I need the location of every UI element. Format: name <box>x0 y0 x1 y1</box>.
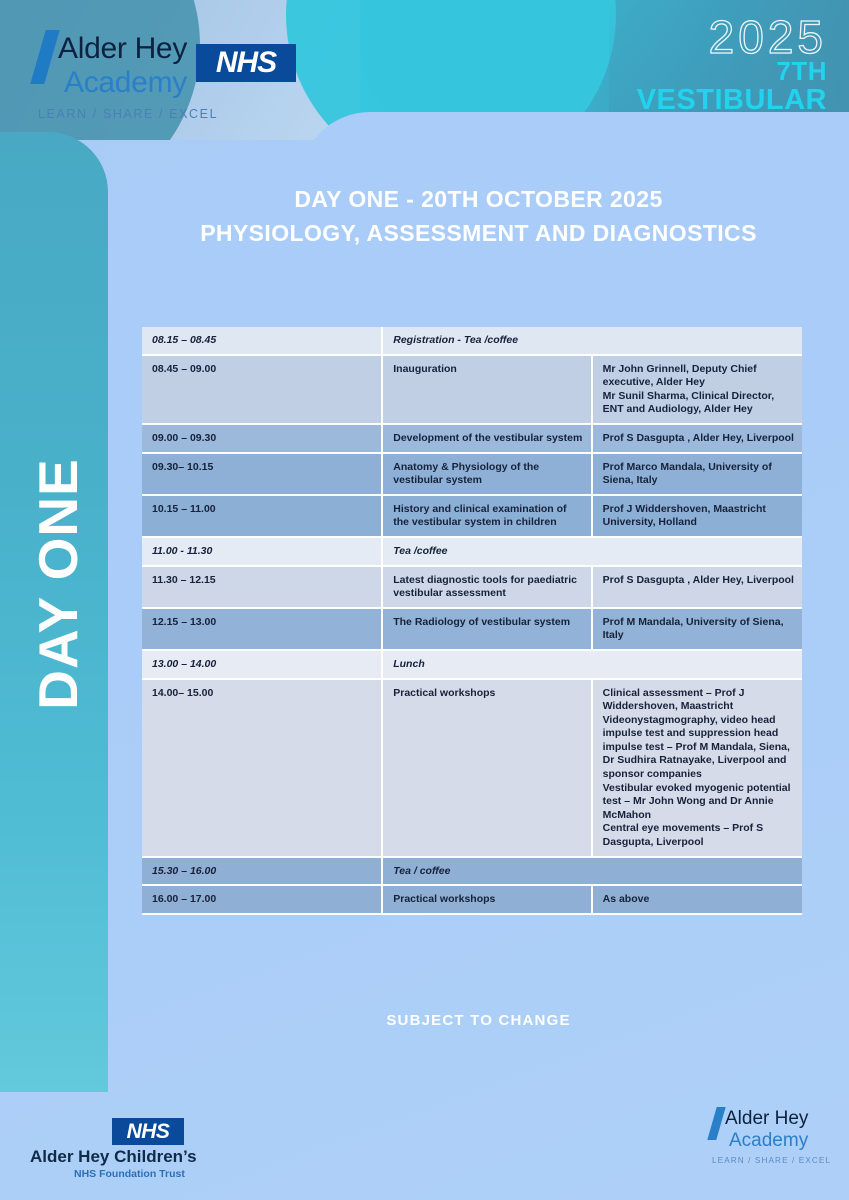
nhs-foundation-trust-logo: NHS Alder Hey Children’s NHS Foundation … <box>30 1118 230 1184</box>
schedule-topic: Tea / coffee <box>383 858 802 887</box>
event-name: VESTIBULAR <box>637 84 827 117</box>
table-row: 11.30 – 12.15Latest diagnostic tools for… <box>142 567 802 609</box>
schedule-time: 08.45 – 09.00 <box>142 356 383 425</box>
page-title-line-2: PHYSIOLOGY, ASSESSMENT AND DIAGNOSTICS <box>108 216 849 250</box>
day-side-band: DAY ONE <box>0 132 108 1092</box>
schedule-time: 13.00 – 14.00 <box>142 651 383 680</box>
table-row: 15.30 – 16.00Tea / coffee <box>142 858 802 887</box>
schedule-time: 14.00– 15.00 <box>142 680 383 858</box>
page-title: DAY ONE - 20TH OCTOBER 2025 PHYSIOLOGY, … <box>108 182 849 250</box>
schedule-time: 12.15 – 13.00 <box>142 609 383 651</box>
schedule-speaker: Prof M Mandala, University of Siena, Ita… <box>593 609 802 651</box>
schedule-time: 09.00 – 09.30 <box>142 425 383 454</box>
logo-tagline: LEARN / SHARE / EXCEL <box>38 107 218 121</box>
table-row: 08.15 – 08.45Registration - Tea /coffee <box>142 327 802 356</box>
table-row: 08.45 – 09.00InaugurationMr John Grinnel… <box>142 356 802 425</box>
trust-name: Alder Hey Children’s <box>30 1147 197 1167</box>
table-row: 16.00 – 17.00Practical workshopsAs above <box>142 886 802 915</box>
schedule-speaker: Prof Marco Mandala, University of Siena,… <box>593 454 802 496</box>
schedule-speaker: Clinical assessment – Prof J Widdershove… <box>593 680 802 858</box>
table-row: 09.00 – 09.30Development of the vestibul… <box>142 425 802 454</box>
schedule-topic: Registration - Tea /coffee <box>383 327 802 356</box>
schedule-time: 11.30 – 12.15 <box>142 567 383 609</box>
poster-page: Alder Hey Academy LEARN / SHARE / EXCEL … <box>0 0 849 1200</box>
schedule-topic: Development of the vestibular system <box>383 425 592 454</box>
table-row: 14.00– 15.00Practical workshopsClinical … <box>142 680 802 858</box>
schedule-time: 08.15 – 08.45 <box>142 327 383 356</box>
schedule-time: 11.00 - 11.30 <box>142 538 383 567</box>
header-bottom-curve <box>300 112 849 182</box>
event-ordinal: 7TH <box>776 56 827 87</box>
footer-logo-tagline: LEARN / SHARE / EXCEL <box>712 1156 831 1165</box>
schedule-topic: Practical workshops <box>383 680 592 858</box>
schedule-topic: Inauguration <box>383 356 592 425</box>
nhs-logo-header: NHS <box>196 44 296 82</box>
page-title-line-1: DAY ONE - 20TH OCTOBER 2025 <box>108 182 849 216</box>
alder-hey-academy-logo-footer: Alder Hey Academy LEARN / SHARE / EXCEL <box>712 1105 849 1185</box>
schedule-time: 15.30 – 16.00 <box>142 858 383 887</box>
schedule-topic: Practical workshops <box>383 886 592 915</box>
schedule-speaker: Prof S Dasgupta , Alder Hey, Liverpool <box>593 425 802 454</box>
schedule-topic: Anatomy & Physiology of the vestibular s… <box>383 454 592 496</box>
footer-logo-line-1: Alder Hey <box>725 1108 808 1130</box>
table-row: 11.00 - 11.30Tea /coffee <box>142 538 802 567</box>
table-row: 12.15 – 13.00The Radiology of vestibular… <box>142 609 802 651</box>
schedule-speaker: Prof S Dasgupta , Alder Hey, Liverpool <box>593 567 802 609</box>
table-row: 10.15 – 11.00History and clinical examin… <box>142 496 802 538</box>
schedule-topic: Latest diagnostic tools for paediatric v… <box>383 567 592 609</box>
footer-logo-line-2: Academy <box>729 1130 808 1152</box>
nhs-logo-footer: NHS <box>112 1118 184 1145</box>
schedule-topic: The Radiology of vestibular system <box>383 609 592 651</box>
schedule-time: 16.00 – 17.00 <box>142 886 383 915</box>
nhs-logo-footer-text: NHS <box>127 1120 170 1144</box>
day-side-band-label: DAY ONE <box>26 274 90 894</box>
schedule-speaker: As above <box>593 886 802 915</box>
schedule-time: 09.30– 10.15 <box>142 454 383 496</box>
schedule-time: 10.15 – 11.00 <box>142 496 383 538</box>
schedule-table: 08.15 – 08.45Registration - Tea /coffee0… <box>142 327 802 915</box>
schedule-speaker: Prof J Widdershoven, Maastricht Universi… <box>593 496 802 538</box>
slash-icon-footer <box>707 1107 725 1140</box>
schedule-topic: History and clinical examination of the … <box>383 496 592 538</box>
schedule-topic: Lunch <box>383 651 802 680</box>
trust-subtitle: NHS Foundation Trust <box>74 1168 185 1180</box>
table-row: 09.30– 10.15Anatomy & Physiology of the … <box>142 454 802 496</box>
schedule-topic: Tea /coffee <box>383 538 802 567</box>
schedule-speaker: Mr John Grinnell, Deputy Chief executive… <box>593 356 802 425</box>
logo-line-1: Alder Hey <box>58 32 187 66</box>
subject-to-change-notice: SUBJECT TO CHANGE <box>108 1012 849 1029</box>
logo-line-2: Academy <box>64 66 187 100</box>
nhs-logo-text: NHS <box>216 46 276 80</box>
table-row: 13.00 – 14.00Lunch <box>142 651 802 680</box>
